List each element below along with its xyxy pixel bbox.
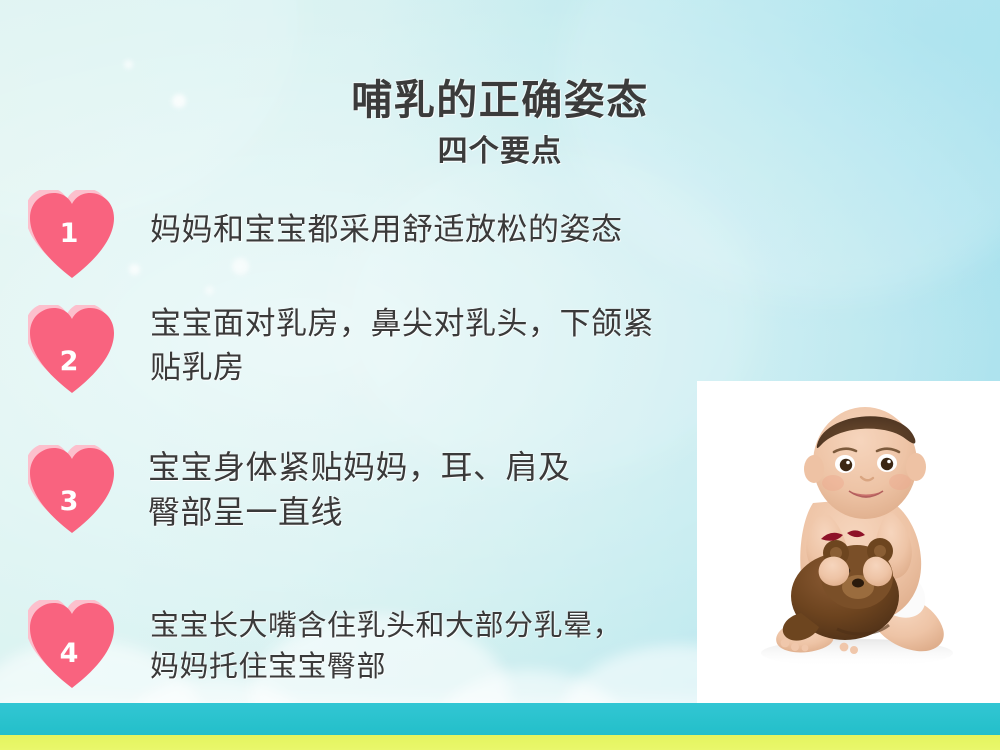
background-bubble-2 [172,94,186,108]
point-3-line-1: 宝宝身体紧贴妈妈，耳、肩及 [148,445,708,490]
point-4-number: 4 [28,640,110,667]
point-4-text: 宝宝长大嘴含住乳头和大部分乳晕， 妈妈托住宝宝臀部 [150,605,750,687]
point-2-line-1: 宝宝面对乳房，鼻尖对乳头，下颌紧 [150,302,810,346]
point-4-line-2: 妈妈托住宝宝臀部 [150,646,750,687]
background-bubble-5 [205,286,214,295]
point-1-heart: 1 [28,190,116,282]
point-3-heart: 3 [28,445,116,537]
point-1-line-1: 妈妈和宝宝都采用舒适放松的姿态 [150,208,710,252]
background-bubble-4 [232,258,249,275]
point-4-line-1: 宝宝长大嘴含住乳头和大部分乳晕， [150,605,750,646]
point-2-heart: 2 [28,305,116,397]
point-1-number: 1 [28,220,110,247]
slide-canvas: 哺乳的正确姿态 四个要点 [0,0,1000,750]
point-3-text: 宝宝身体紧贴妈妈，耳、肩及 臀部呈一直线 [148,445,708,536]
point-1-text: 妈妈和宝宝都采用舒适放松的姿态 [150,208,710,252]
point-3-number: 3 [28,488,110,515]
point-2-text: 宝宝面对乳房，鼻尖对乳头，下颌紧 贴乳房 [150,302,810,390]
point-2-line-2: 贴乳房 [150,346,810,390]
background-bubble-3 [129,264,140,275]
point-2-number: 2 [28,348,110,375]
footer-band-teal [0,703,1000,735]
point-4-heart: 4 [28,600,116,692]
point-3-line-2: 臀部呈一直线 [148,490,708,535]
background-bubble-1 [124,60,133,69]
footer-band-lime [0,735,1000,750]
